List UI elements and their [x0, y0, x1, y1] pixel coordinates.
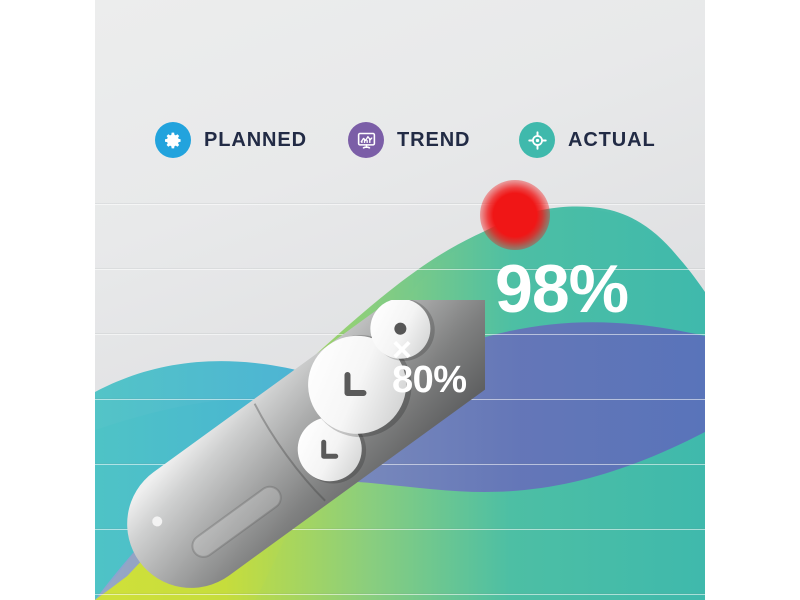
legend-item-actual[interactable]: ACTUAL: [519, 122, 656, 158]
left-margin: [0, 0, 95, 600]
chart-canvas: 98% × 80% PLANNED: [95, 0, 705, 600]
right-margin: [705, 0, 800, 600]
legend-label-actual: ACTUAL: [568, 129, 656, 152]
presentation-chart-icon: [348, 122, 384, 158]
laser-pointer-dot: [480, 180, 550, 250]
gear-icon: [155, 122, 191, 158]
legend-item-planned[interactable]: PLANNED: [155, 122, 307, 158]
legend-item-trend[interactable]: TREND: [348, 122, 470, 158]
legend-label-planned: PLANNED: [204, 129, 307, 152]
legend-label-trend: TREND: [397, 129, 470, 152]
wireless-presenter-remote: [95, 300, 485, 600]
screenshot-root: 98% × 80% PLANNED: [0, 0, 800, 600]
planned-value-callout: 80%: [392, 361, 467, 399]
target-crosshair-icon: [519, 122, 555, 158]
actual-value-callout: 98%: [495, 255, 628, 323]
